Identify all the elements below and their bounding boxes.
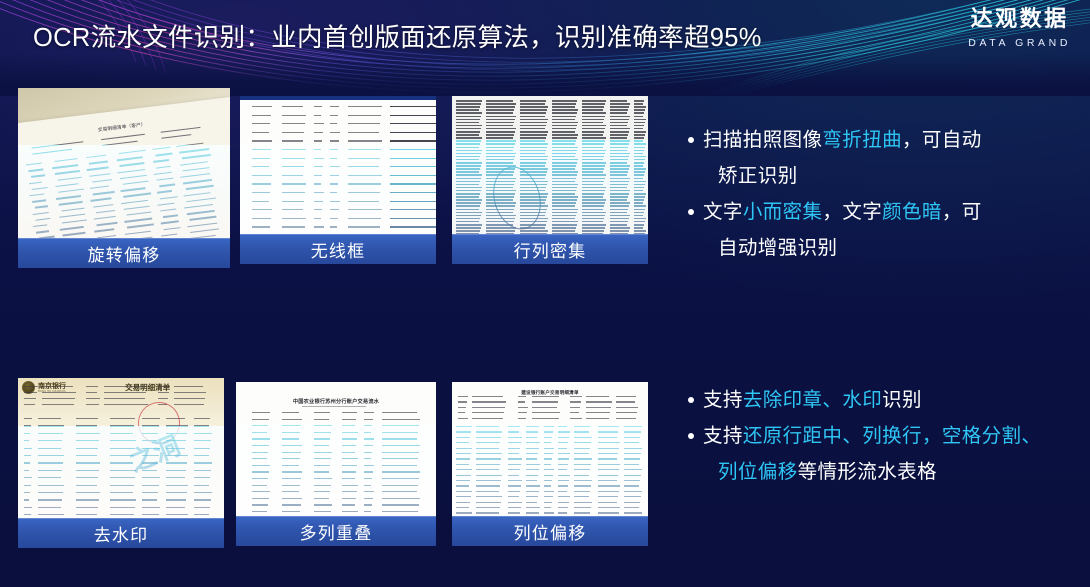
highlight-text: 颜色暗 [882, 200, 942, 223]
sample-card-watermark[interactable]: 南京银行 BANK OF NANJING 交易明细清单 之洞 去水印 [18, 378, 224, 548]
feature-list-top: 扫描拍照图像弯折扭曲，可自动矫正识别文字小而密集，文字颜色暗，可自动增强识别 [688, 122, 1060, 266]
brand-logo: 达观数据 DATA GRAND [968, 9, 1071, 49]
feature-bullet-line: 支持去除印章、水印识别 [688, 382, 1060, 418]
card-caption-dense: 行列密集 [452, 234, 648, 264]
feature-bullet-text: 自动增强识别 [718, 230, 1060, 266]
feature-bullet-line: 支持还原行距中、列换行，空格分割、 [688, 418, 1060, 454]
feature-bullet-line: 矫正识别 [688, 158, 1060, 194]
bullet-spacer [703, 245, 709, 251]
page-title: OCR流水文件识别：业内首创版面还原算法，识别准确率超95% [33, 17, 762, 54]
bullet-spacer [703, 173, 709, 179]
card-caption-overlap: 多列重叠 [236, 516, 436, 546]
card-caption-watermark: 去水印 [18, 518, 224, 548]
plain-text: ，文字 [822, 200, 882, 223]
card-caption-borderless: 无线框 [240, 234, 436, 264]
sample-card-overlap[interactable]: 中国农业银行苏州分行账户交易流水 多列重叠 [236, 382, 436, 546]
plain-text: 矫正识别 [718, 164, 798, 187]
feature-bullet-text: 矫正识别 [718, 158, 1060, 194]
plain-text: 等情形流水表格 [798, 460, 937, 483]
plain-text: 支持 [703, 424, 743, 447]
highlight-text: 弯折扭曲 [822, 128, 902, 151]
bullet-dot-icon [688, 433, 694, 439]
plain-text: ，可 [942, 200, 982, 223]
feature-bullet-line: 扫描拍照图像弯折扭曲，可自动 [688, 122, 1060, 158]
highlight-text: 列位偏移 [718, 460, 798, 483]
brand-logo-cn: 达观数据 [968, 9, 1071, 31]
feature-bullet-text: 列位偏移等情形流水表格 [718, 454, 1060, 490]
feature-bullet-line: 自动增强识别 [688, 230, 1060, 266]
feature-list-bottom: 支持去除印章、水印识别支持还原行距中、列换行，空格分割、列位偏移等情形流水表格 [688, 382, 1060, 490]
feature-bullet-line: 文字小而密集，文字颜色暗，可 [688, 194, 1060, 230]
feature-bullet-text: 支持还原行距中、列换行，空格分割、 [703, 418, 1060, 454]
doc-title-overlap: 中国农业银行苏州分行账户交易流水 [236, 398, 436, 405]
feature-bullet-text: 扫描拍照图像弯折扭曲，可自动 [703, 122, 1060, 158]
plain-text: 自动增强识别 [718, 236, 837, 259]
sample-card-borderless[interactable]: 无线框 [240, 96, 436, 264]
sample-card-dense[interactable]: 行列密集 [452, 96, 648, 264]
card-caption-rotated: 旋转偏移 [18, 238, 230, 268]
bullet-dot-icon [688, 397, 694, 403]
sample-card-rotated[interactable]: 交易明细清单（客户） 旋转偏移 [18, 88, 230, 268]
plain-text: 扫描拍照图像 [703, 128, 822, 151]
highlight-text: 去除印章、水印 [743, 388, 882, 411]
highlight-text: 小而密集 [743, 200, 823, 223]
feature-bullet-text: 文字小而密集，文字颜色暗，可 [703, 194, 1060, 230]
plain-text: 文字 [703, 200, 743, 223]
plain-text: ，可自动 [902, 128, 982, 151]
feature-bullet-line: 列位偏移等情形流水表格 [688, 454, 1060, 490]
brand-logo-en: DATA GRAND [968, 38, 1071, 49]
sample-card-coloffset[interactable]: 建设银行账户交易明细清单 列位偏移 [452, 382, 648, 546]
feature-bullet-text: 支持去除印章、水印识别 [703, 382, 1060, 418]
plain-text: 支持 [703, 388, 743, 411]
plain-text: 识别 [882, 388, 922, 411]
bullet-spacer [703, 469, 709, 475]
bullet-dot-icon [688, 209, 694, 215]
slide-root: OCR流水文件识别：业内首创版面还原算法，识别准确率超95% 达观数据 DATA… [0, 0, 1090, 587]
card-caption-coloffset: 列位偏移 [452, 516, 648, 546]
highlight-text: 还原行距中、列换行，空格分割、 [743, 424, 1042, 447]
bullet-dot-icon [688, 137, 694, 143]
